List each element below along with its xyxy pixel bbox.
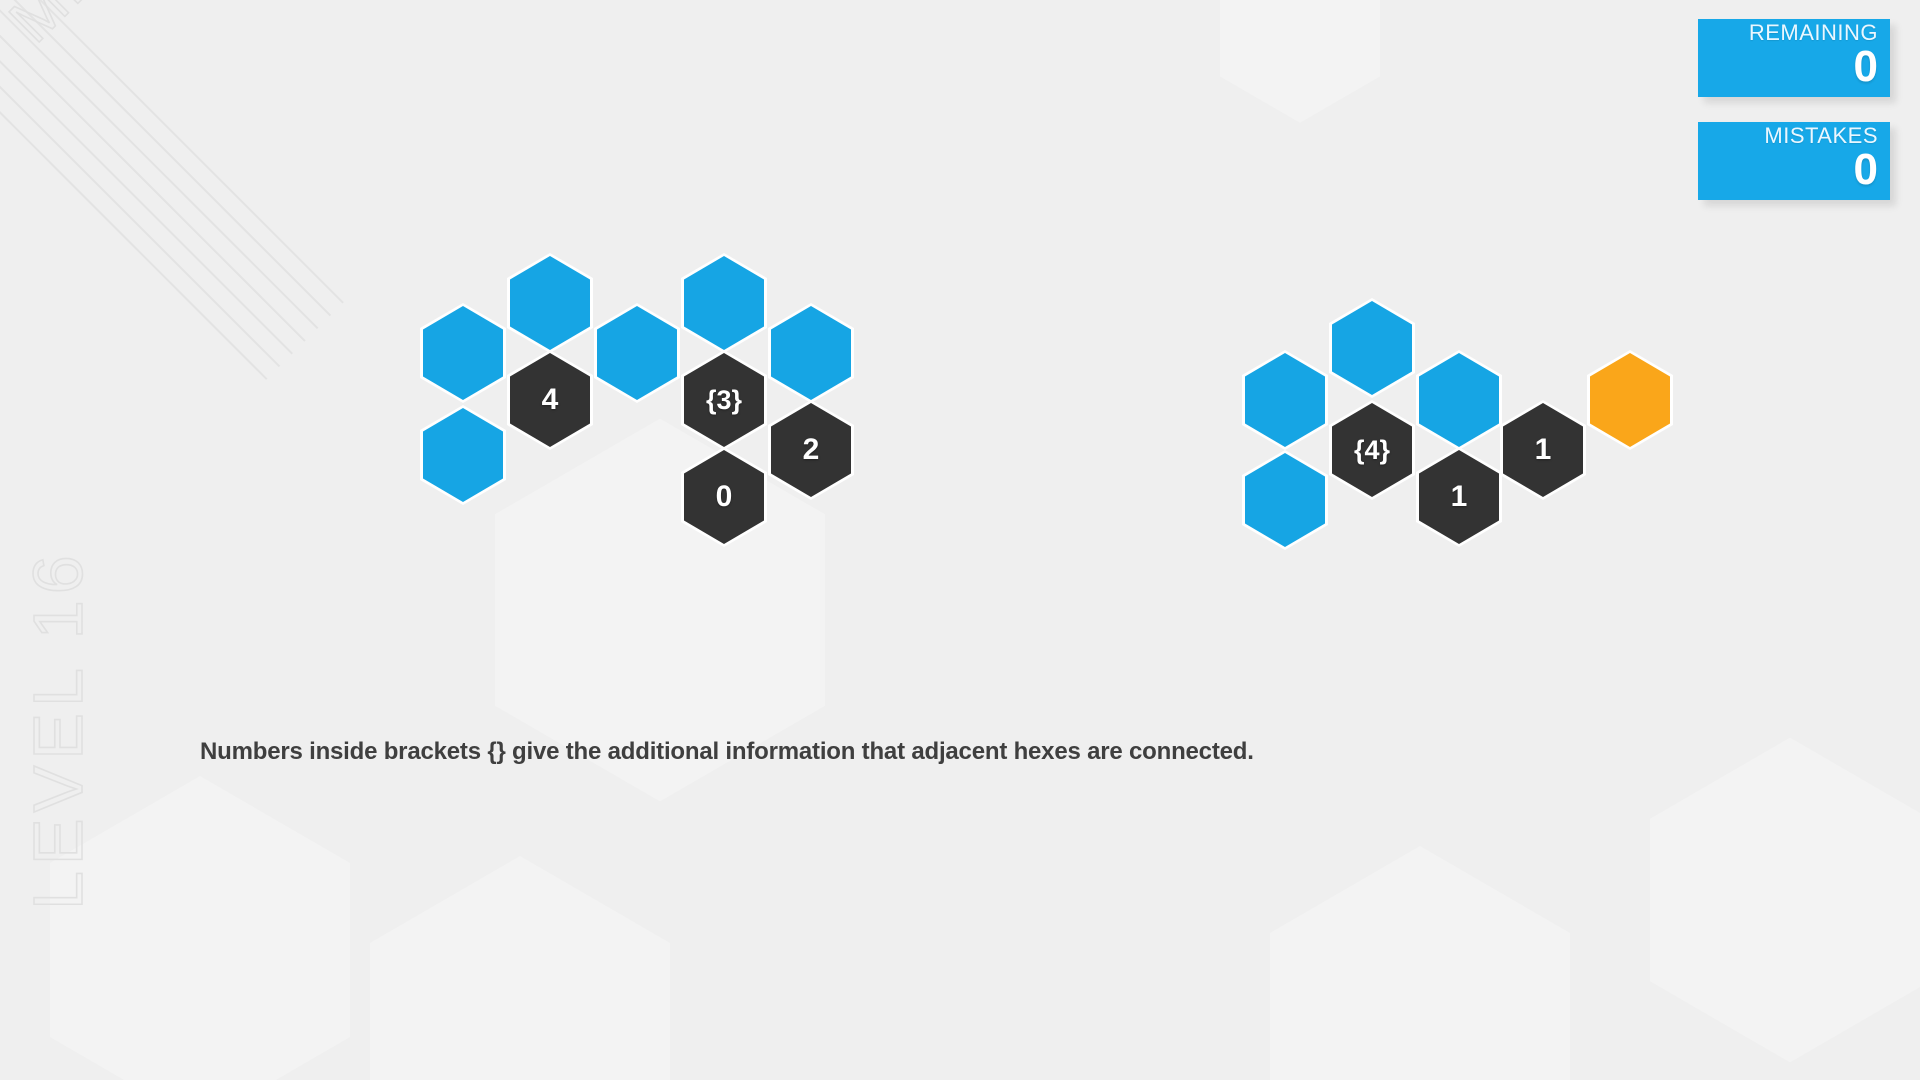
hex-cell-r7-dark[interactable]: 1 [1500,400,1586,500]
hex-cell-r8-orange[interactable] [1587,350,1673,450]
hex-cell-r1-blue[interactable] [1242,350,1328,450]
hex-label: 1 [1535,435,1552,465]
hex-fill [1245,353,1325,447]
hex-cell-r6-dark[interactable]: 1 [1416,447,1502,547]
hex-cell-r5-blue[interactable] [1416,350,1502,450]
hex-cell-r4-dark[interactable]: {4} [1329,400,1415,500]
hex-label: {4} [1354,437,1390,464]
right-cluster: {4}11 [0,0,1920,1080]
hex-fill [1245,453,1325,547]
hex-label: 1 [1451,482,1468,512]
hex-cell-r2-blue[interactable] [1242,450,1328,550]
hex-fill [1332,301,1412,395]
hex-fill [1419,353,1499,447]
hex-fill [1590,353,1670,447]
hint-text: Numbers inside brackets {} give the addi… [200,738,1254,766]
hex-board: 4{3}20{4}11 [0,0,1920,1080]
hex-cell-r3-blue[interactable] [1329,298,1415,398]
